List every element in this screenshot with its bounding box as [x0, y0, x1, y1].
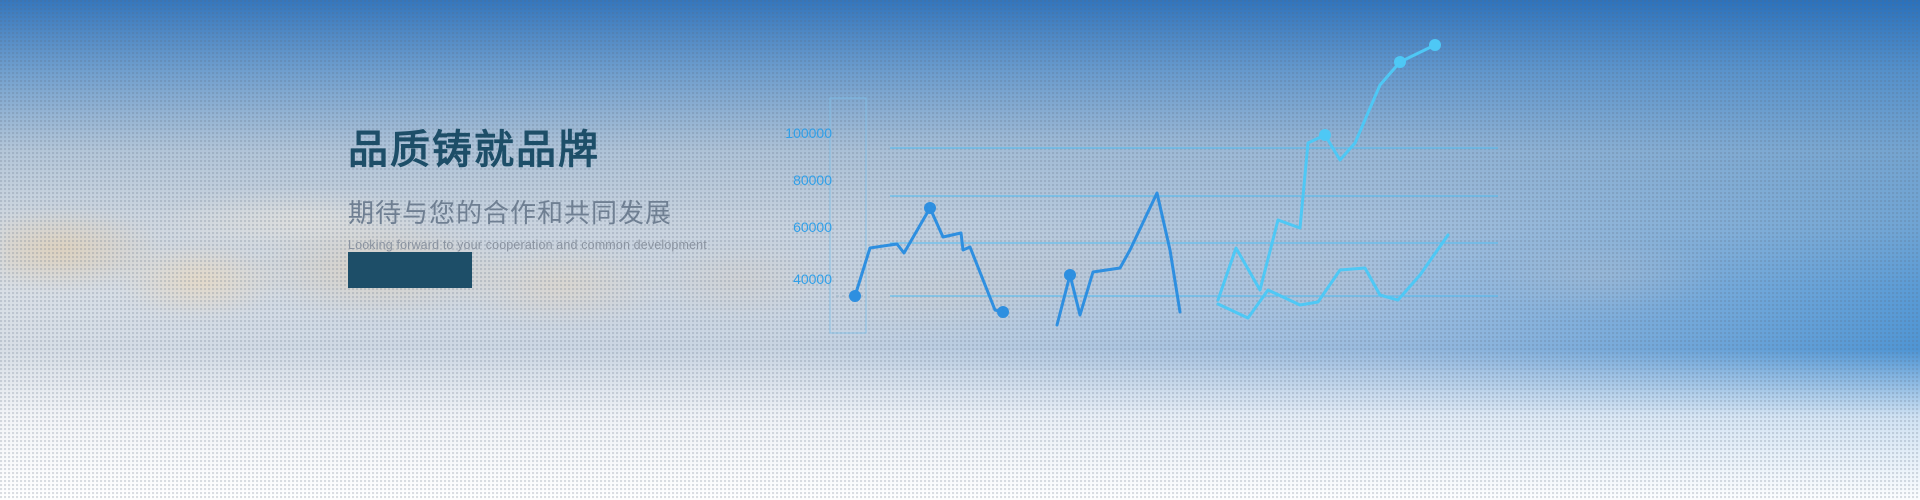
chart-data-point: [997, 306, 1009, 318]
chart-data-point: [1064, 269, 1076, 281]
chart-data-point: [1319, 129, 1331, 141]
hero-text-block: 品质铸就品牌 期待与您的合作和共同发展 Looking forward to y…: [348, 126, 768, 254]
subtitle-cn: 期待与您的合作和共同发展: [348, 197, 768, 230]
y-axis-tick-label: 40000: [793, 271, 832, 287]
chart-data-point: [1394, 56, 1406, 68]
hero-banner: 100000800006000040000 品质铸就品牌 期待与您的合作和共同发…: [0, 0, 1920, 500]
chart-data-point: [924, 202, 936, 214]
chart-data-point: [849, 290, 861, 302]
cta-button[interactable]: [348, 252, 472, 288]
line-chart: 100000800006000040000: [0, 0, 1920, 500]
y-axis-tick-label: 60000: [793, 219, 832, 235]
y-axis-tick-label: 80000: [793, 172, 832, 188]
y-axis-tick-label: 100000: [785, 125, 832, 141]
chart-series-line: [1218, 45, 1435, 300]
chart-data-point: [1429, 39, 1441, 51]
chart-series-line: [1057, 193, 1180, 325]
page-title: 品质铸就品牌: [348, 126, 768, 175]
